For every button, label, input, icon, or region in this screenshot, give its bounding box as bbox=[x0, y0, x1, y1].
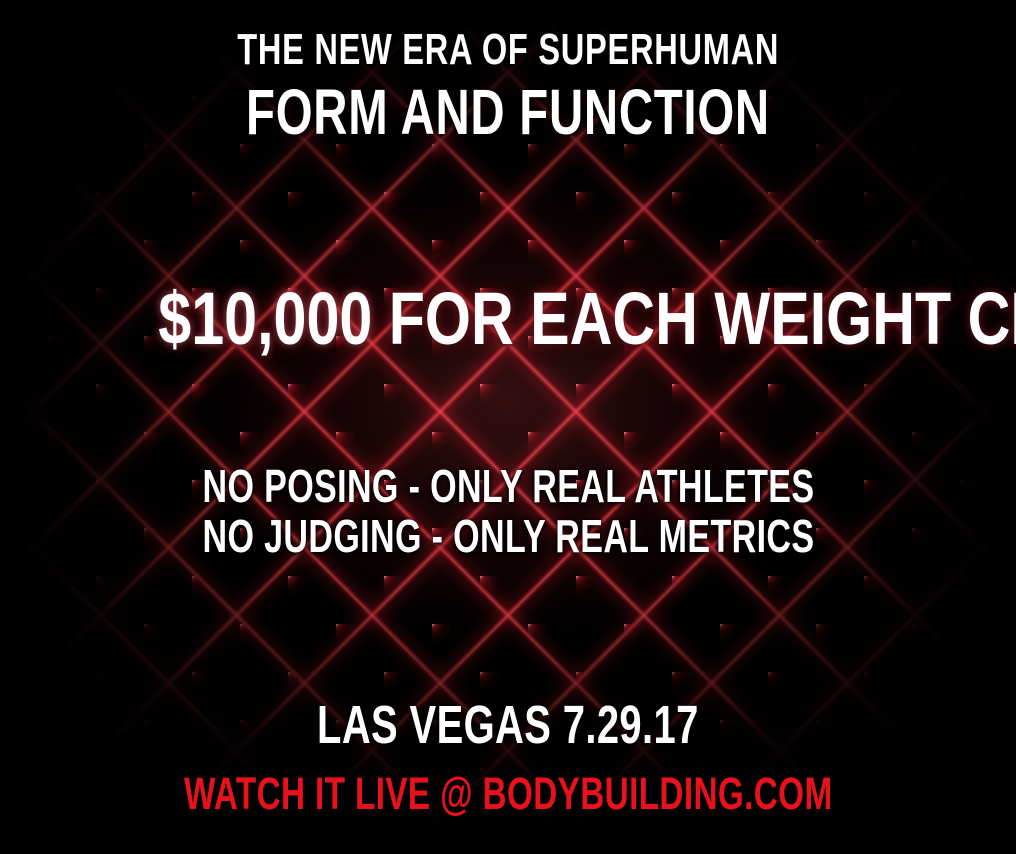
prize-amount: $10,000 bbox=[158, 277, 372, 360]
poster-content: THE NEW ERA OF SUPERHUMAN FORM AND FUNCT… bbox=[0, 0, 1016, 854]
venue-date-label: LAS VEGAS 7.29.17 bbox=[317, 698, 699, 752]
rule-line-1: NO POSING - ONLY REAL ATHLETES bbox=[0, 463, 1016, 509]
prize-headline-inner: $10,000 FOR EACH WEIGHT CLASS WINNER bbox=[158, 282, 1016, 356]
rule-1-label: NO POSING - ONLY REAL ATHLETES bbox=[202, 463, 814, 509]
promo-poster: THE NEW ERA OF SUPERHUMAN FORM AND FUNCT… bbox=[0, 0, 1016, 854]
prize-headline: $10,000 FOR EACH WEIGHT CLASS WINNER bbox=[0, 282, 1016, 356]
venue-date: LAS VEGAS 7.29.17 bbox=[0, 698, 1016, 752]
watch-live-line: WATCH IT LIVE @ BODYBUILDING.COM bbox=[0, 771, 1016, 816]
rule-2-label: NO JUDGING - ONLY REAL METRICS bbox=[202, 513, 814, 559]
prize-rest: FOR EACH WEIGHT CLASS WINNER bbox=[372, 277, 1016, 360]
title-label: FORM AND FUNCTION bbox=[246, 80, 770, 144]
eyebrow-text: THE NEW ERA OF SUPERHUMAN bbox=[0, 28, 1016, 72]
poster-title: FORM AND FUNCTION bbox=[0, 80, 1016, 144]
rule-line-2: NO JUDGING - ONLY REAL METRICS bbox=[0, 513, 1016, 559]
eyebrow-label: THE NEW ERA OF SUPERHUMAN bbox=[237, 28, 779, 72]
watch-live-label: WATCH IT LIVE @ BODYBUILDING.COM bbox=[184, 771, 833, 816]
